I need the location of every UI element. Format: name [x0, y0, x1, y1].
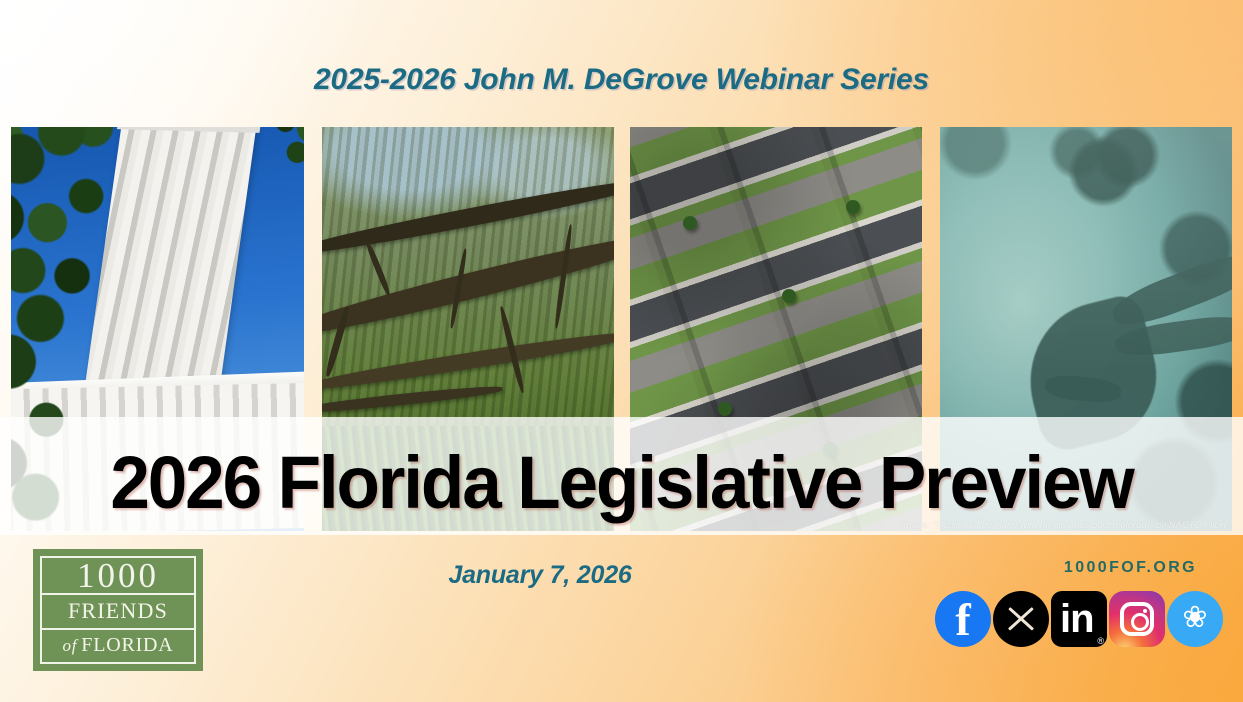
logo-word-of: of	[62, 636, 77, 656]
instagram-icon	[1109, 591, 1165, 647]
linkedin-icon: in ®	[1051, 591, 1107, 647]
bluesky-link[interactable]: ❀	[1167, 591, 1223, 647]
logo-line-1000: 1000	[42, 558, 194, 595]
tree-icon	[782, 289, 796, 303]
facebook-icon	[935, 591, 991, 647]
photo-credit: Image: "Dedicated bus lane with far-side…	[901, 520, 1227, 531]
palm-frond-icon	[228, 127, 304, 240]
footer-bar: 1000 FRIENDS of FLORIDA January 7, 2026 …	[0, 535, 1243, 702]
bluesky-glyph: ❀	[1167, 602, 1223, 634]
registered-mark: ®	[1097, 636, 1104, 646]
webinar-title-slide: 2025-2026 John M. DeGrove Webinar Series	[0, 0, 1243, 702]
social-links: in ® ❀	[935, 591, 1223, 647]
tree-icon	[718, 402, 732, 416]
logo-1000-friends-of-florida[interactable]: 1000 FRIENDS of FLORIDA	[33, 549, 203, 671]
x-twitter-icon	[993, 591, 1049, 647]
logo-word-florida: FLORIDA	[81, 634, 173, 657]
event-date: January 7, 2026	[330, 561, 750, 590]
linkedin-link[interactable]: in ®	[1051, 591, 1107, 647]
linkedin-glyph: in	[1060, 598, 1094, 640]
webinar-series-title: 2025-2026 John M. DeGrove Webinar Series	[0, 63, 1243, 97]
logo-frame: 1000 FRIENDS of FLORIDA	[40, 556, 196, 664]
website-url[interactable]: 1000FOF.ORG	[1064, 559, 1197, 577]
logo-line-of-florida: of FLORIDA	[42, 630, 194, 663]
tree-icon	[846, 200, 860, 214]
instagram-link[interactable]	[1109, 591, 1165, 647]
logo-line-friends: FRIENDS	[42, 595, 194, 630]
tree-icon	[683, 216, 697, 230]
x-twitter-link[interactable]	[993, 591, 1049, 647]
page-title: 2026 Florida Legislative Preview	[25, 440, 1218, 525]
facebook-link[interactable]	[935, 591, 991, 647]
bluesky-butterfly-icon: ❀	[1167, 591, 1223, 647]
